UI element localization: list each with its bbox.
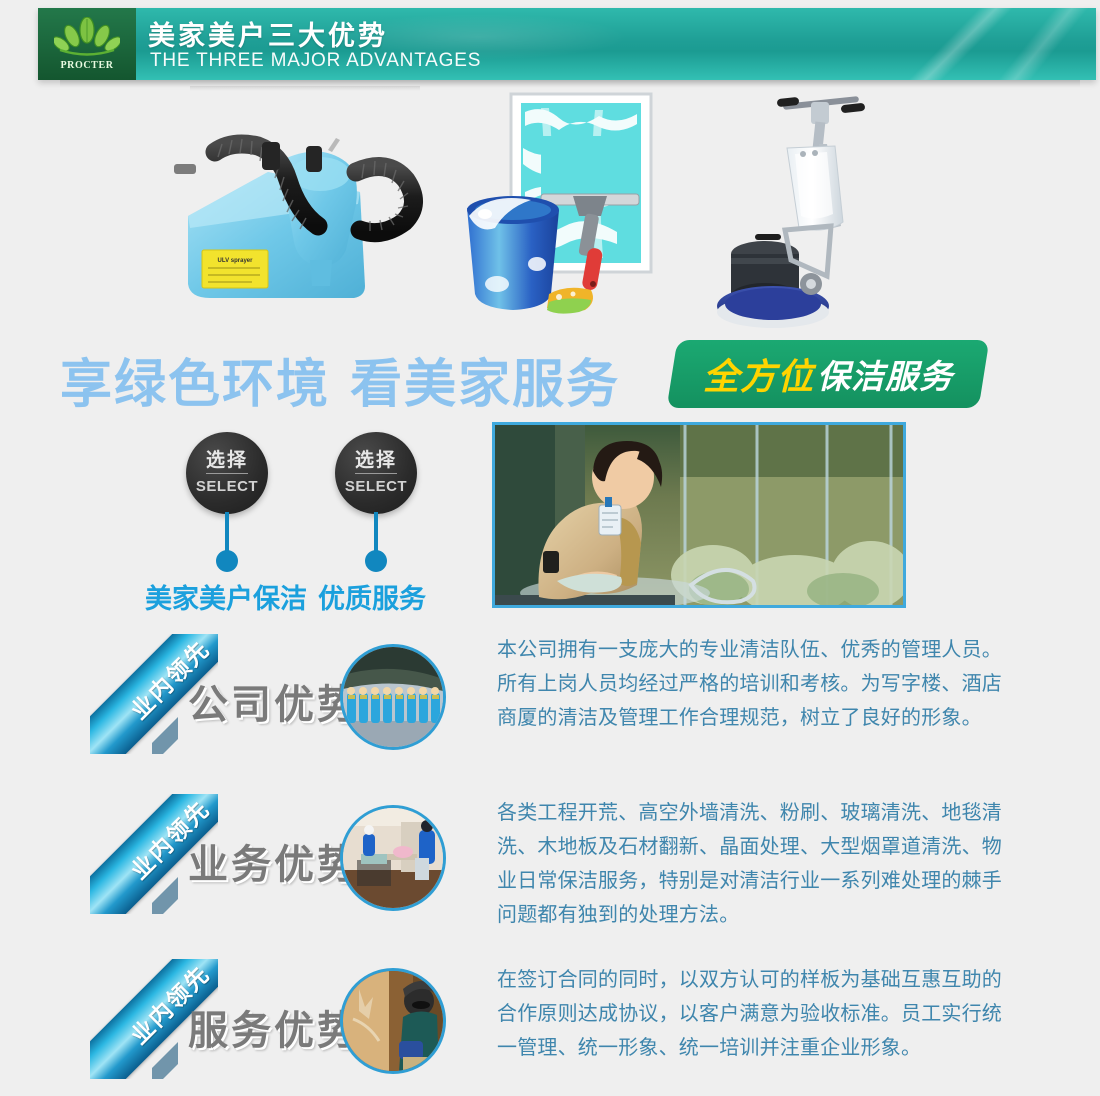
full-service-badge: 全方位 保洁服务 [672, 340, 984, 408]
main-slogan: 享绿色环境 看美家服务 [60, 342, 620, 417]
advantage-photo-2 [340, 968, 446, 1074]
company-logo: PROCTER [38, 8, 136, 80]
badge-rest-text: 保洁服务 [817, 350, 953, 398]
header-title-en: THE THREE MAJOR ADVANTAGES [150, 50, 481, 72]
product-image-floor-polisher [715, 88, 905, 333]
leaf-crown-icon [54, 17, 120, 59]
select-bubble-2-dot [365, 550, 387, 572]
header-title-cn: 美家美户三大优势 [148, 14, 388, 53]
svg-text:ULV sprayer: ULV sprayer [218, 258, 254, 264]
advantage-title-0: 公司优势 [188, 672, 360, 730]
product-image-row: ULV sprayer [0, 88, 1100, 338]
logo-brand-text: PROCTER [60, 60, 113, 71]
select-bubble-2[interactable]: 选择 SELECT [335, 432, 417, 514]
page-root: PROCTER 美家美户三大优势 THE THREE MAJOR ADVANTA… [0, 0, 1100, 1096]
badge-highlight-text: 全方位 [703, 348, 814, 400]
advantage-text-2: 在签订合同的同时，以双方认可的样板为基础互惠互助的合作原则达成协议，以客户满意为… [497, 962, 1005, 1064]
select-bubble-1-label: 美家美户保洁 [145, 577, 307, 616]
advantage-title-1: 业务优势 [188, 832, 360, 890]
page-header-banner: PROCTER 美家美户三大优势 THE THREE MAJOR ADVANTA… [38, 8, 1096, 80]
select-bubble-1-stem [225, 512, 229, 554]
select-bubble-2-label: 优质服务 [318, 577, 426, 616]
select-bubble-1-cn: 选择 [206, 451, 248, 474]
select-bubble-1-dot [216, 550, 238, 572]
select-bubble-2-cn: 选择 [355, 451, 397, 474]
product-image-ulv-sprayer: ULV sprayer [160, 100, 480, 330]
advantage-title-2: 服务优势 [188, 998, 360, 1056]
select-bubble-2-stem [374, 512, 378, 554]
advantage-photo-1 [340, 805, 446, 911]
select-bubble-1[interactable]: 选择 SELECT [186, 432, 268, 514]
worker-photo [492, 422, 906, 608]
badge-text-wrap: 全方位 保洁服务 [672, 340, 984, 408]
product-image-window-cleaning [445, 88, 695, 328]
advantage-text-1: 各类工程开荒、高空外墙清洗、粉刷、玻璃清洗、地毯清洗、木地板及石材翻新、晶面处理… [497, 795, 1005, 931]
advantage-text-0: 本公司拥有一支庞大的专业清洁队伍、优秀的管理人员。所有上岗人员均经过严格的培训和… [497, 632, 1005, 734]
select-bubble-1-en: SELECT [196, 478, 258, 495]
select-bubble-2-en: SELECT [345, 478, 407, 495]
advantage-photo-0 [340, 644, 446, 750]
